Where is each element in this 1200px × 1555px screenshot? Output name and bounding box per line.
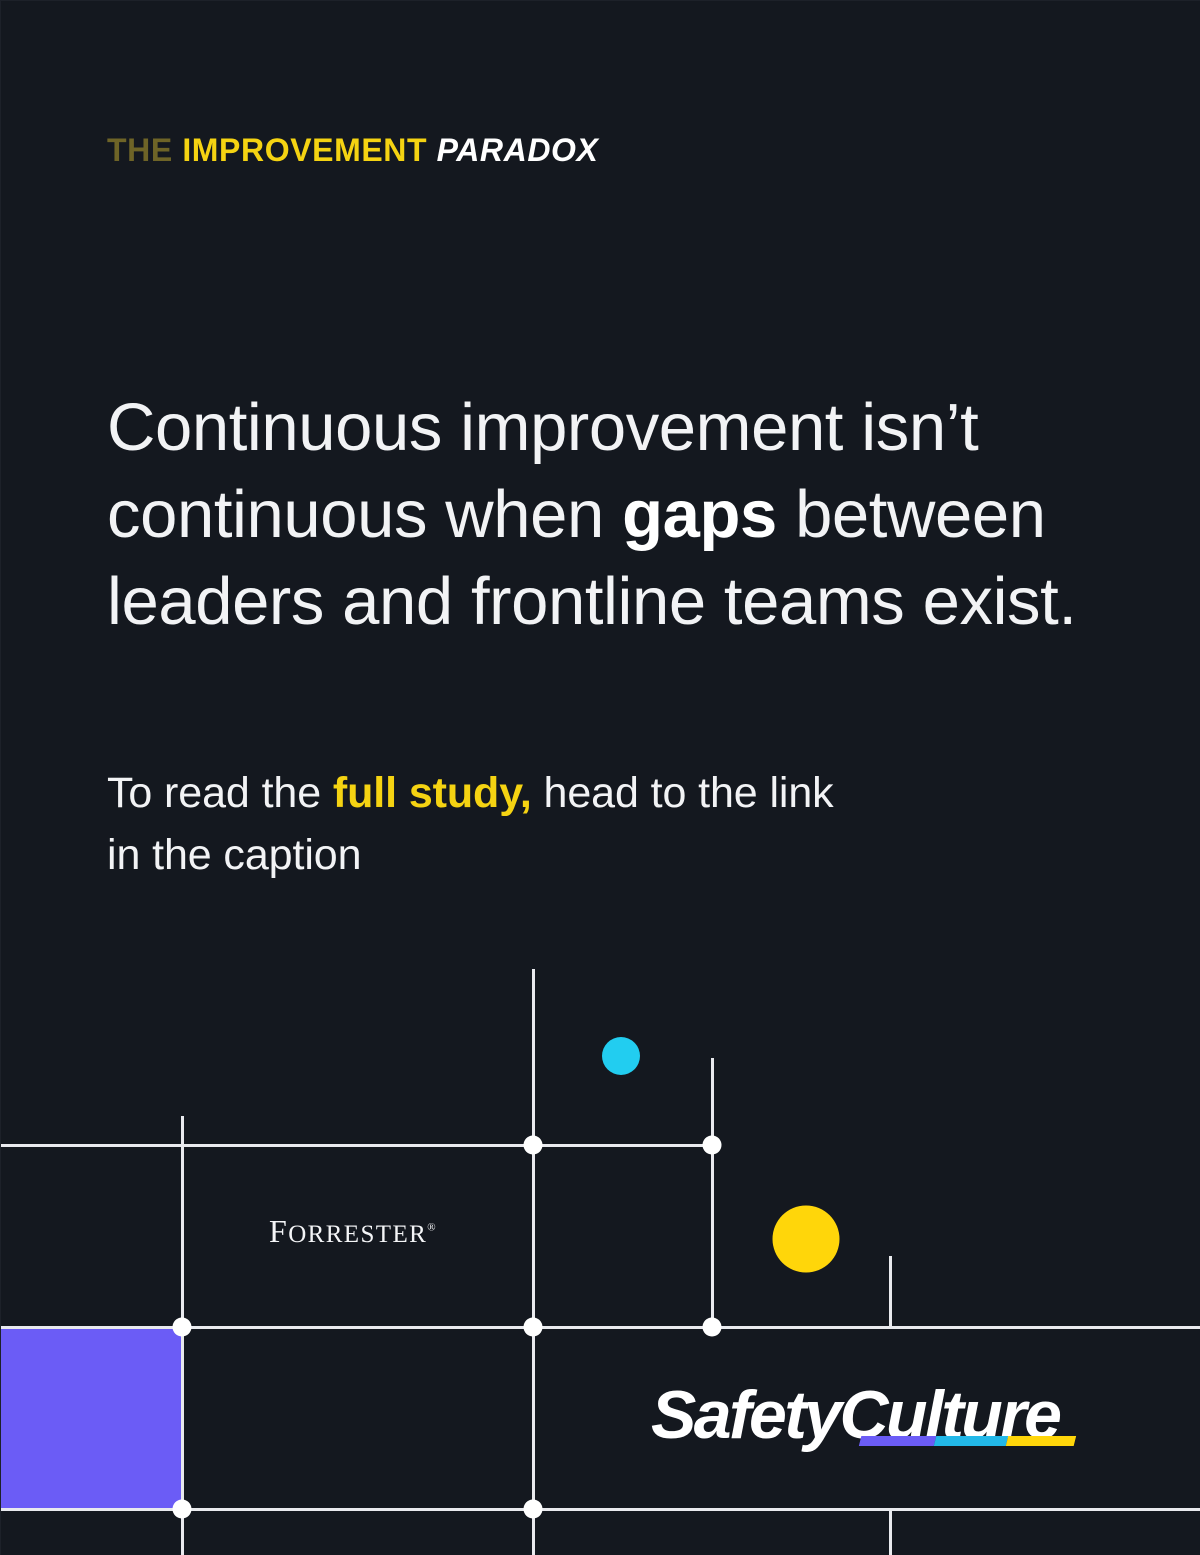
safetyculture-accent-bar xyxy=(859,1436,1076,1446)
headline-emphasis: gaps xyxy=(622,477,777,552)
node-b-bottom xyxy=(524,1500,543,1519)
v-line-c xyxy=(711,1058,714,1328)
eyebrow-paradox: PARADOX xyxy=(437,132,599,168)
accent-bar-segment-yellow xyxy=(1006,1436,1077,1446)
accent-bar-segment-cyan xyxy=(934,1436,1008,1446)
yellow-dot xyxy=(773,1206,840,1273)
v-line-d-lower xyxy=(889,1508,892,1555)
node-c-top xyxy=(703,1136,722,1155)
headline: Continuous improvement isn’t continuous … xyxy=(107,384,1107,645)
v-line-a xyxy=(181,1116,184,1555)
v-line-d-upper xyxy=(889,1256,892,1328)
forrester-rest: ORRESTER xyxy=(288,1221,427,1248)
h-line-bottom xyxy=(1,1508,1200,1511)
v-line-b xyxy=(532,969,535,1555)
subtext-part-1: To read the xyxy=(107,769,333,817)
purple-square xyxy=(1,1327,181,1508)
accent-bar-segment-purple xyxy=(859,1436,937,1446)
safetyculture-logo: SafetyCulture xyxy=(651,1379,1081,1465)
node-b-mid xyxy=(524,1318,543,1337)
cta-subtext: To read the full study, head to the link… xyxy=(107,762,867,886)
poster-canvas: THE IMPROVEMENT PARADOX Continuous impro… xyxy=(0,0,1200,1555)
forrester-lead-letter: F xyxy=(269,1213,288,1249)
h-line-middle xyxy=(1,1326,1200,1329)
subtext-emphasis: full study, xyxy=(333,769,532,817)
registered-trademark-icon: ® xyxy=(427,1221,435,1233)
eyebrow-the: THE xyxy=(107,132,173,168)
eyebrow-kicker: THE IMPROVEMENT PARADOX xyxy=(107,134,599,166)
node-c-mid xyxy=(703,1318,722,1337)
node-a-bottom xyxy=(173,1500,192,1519)
node-b-top xyxy=(524,1136,543,1155)
cyan-dot xyxy=(602,1037,640,1075)
node-a-mid xyxy=(173,1318,192,1337)
forrester-logo: FORRESTER® xyxy=(269,1215,436,1247)
eyebrow-improvement: IMPROVEMENT xyxy=(182,132,427,168)
h-line-top xyxy=(1,1144,713,1147)
